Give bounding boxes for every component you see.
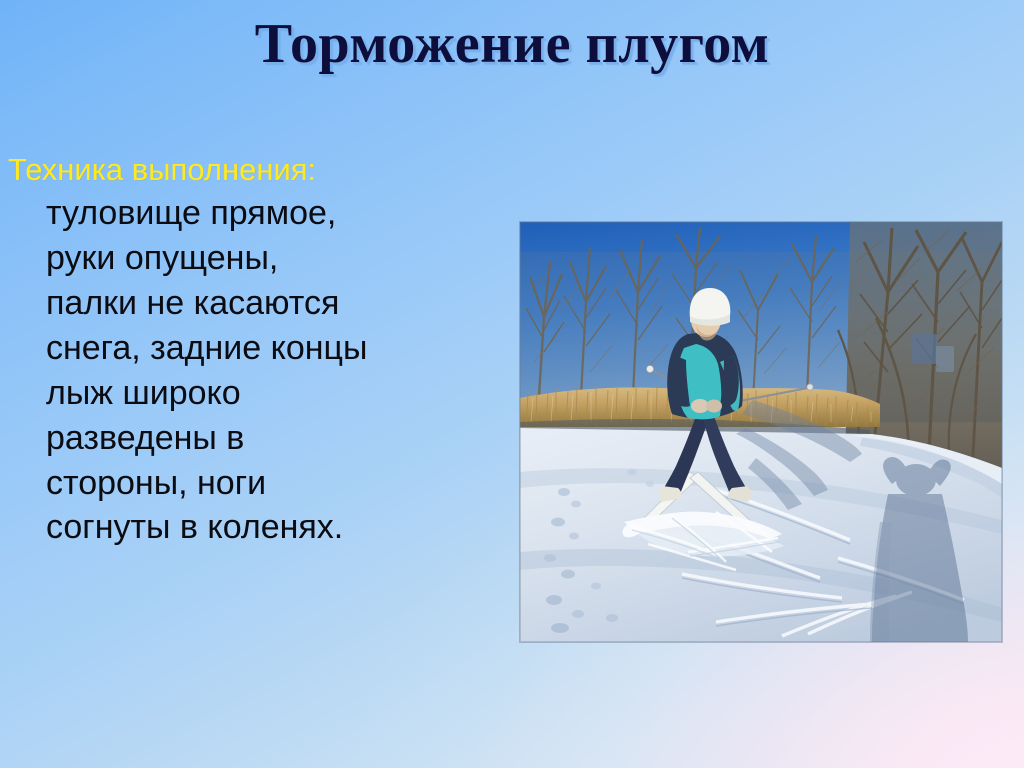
body-text-block: Техника выполнения: туловище прямое, рук… xyxy=(8,152,508,550)
detail-line-list: туловище прямое, руки опущены, палки не … xyxy=(8,191,508,550)
detail-line: разведены в xyxy=(46,416,508,461)
pole-basket-left xyxy=(646,365,653,372)
detail-line: палки не касаются xyxy=(46,281,508,326)
detail-line: туловище прямое, xyxy=(46,191,508,236)
detail-line: стороны, ноги xyxy=(46,461,508,506)
slide-canvas: Торможение плугом Техника выполнения: ту… xyxy=(0,0,1024,768)
distant-object xyxy=(912,334,938,364)
photo-illustration xyxy=(520,222,1002,642)
detail-line: лыж широко xyxy=(46,371,508,416)
lead-label: Техника выполнения: xyxy=(8,152,508,187)
detail-line: снега, задние концы xyxy=(46,326,508,371)
photo-ski-braking xyxy=(520,222,1002,642)
detail-line: согнуты в коленях. xyxy=(46,505,508,550)
detail-line: руки опущены, xyxy=(46,236,508,281)
page-title: Торможение плугом xyxy=(0,14,1024,74)
pole-basket-right xyxy=(807,384,813,390)
